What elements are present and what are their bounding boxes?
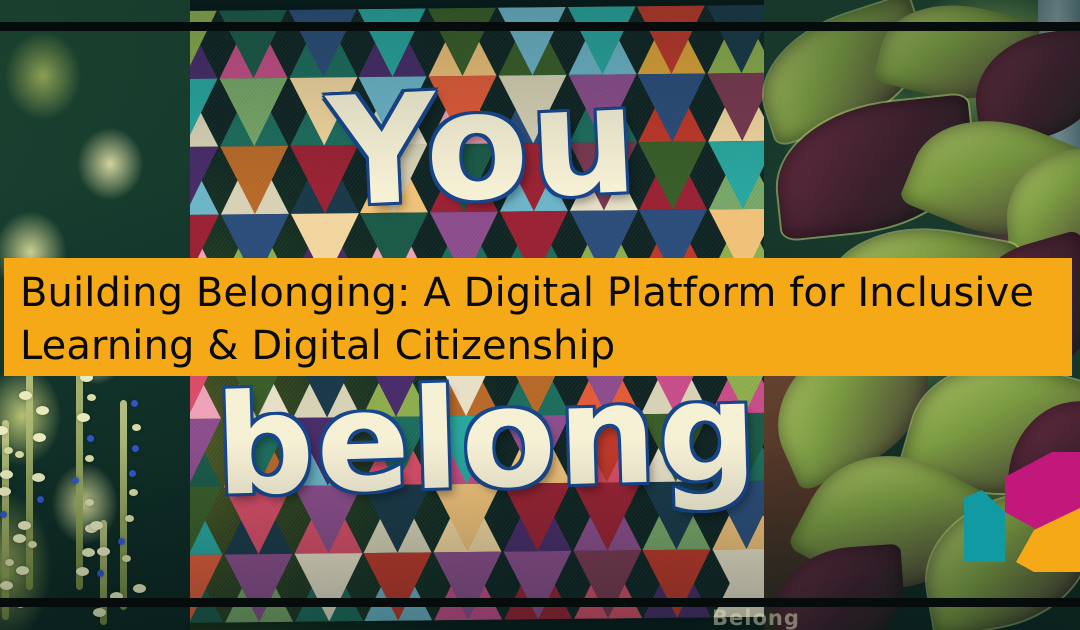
bottom-caption: Belong: [712, 606, 800, 630]
flower-bud: [122, 555, 131, 562]
flower-bud: [125, 515, 134, 522]
slide-canvas: You belong. Belong Building Belonging: A…: [0, 0, 1080, 630]
flower-stem: [120, 400, 127, 610]
flower-bud: [28, 541, 37, 548]
title-banner: Building Belonging: A Digital Platform f…: [4, 258, 1072, 376]
flower-bud: [85, 499, 94, 506]
flower-bud: [132, 424, 141, 431]
flower-bud: [13, 534, 26, 543]
flower-bud: [87, 435, 94, 442]
flower-bud: [85, 455, 94, 462]
flower-bud: [129, 470, 136, 477]
flower-bud: [0, 487, 11, 496]
flower-bud: [15, 451, 24, 458]
flower-bud: [87, 394, 96, 401]
flower-bud: [4, 447, 13, 454]
tri-color-pinwheel-logo[interactable]: [964, 450, 1080, 572]
flower-bud: [76, 567, 89, 576]
flower-bud: [97, 547, 110, 556]
flower-bud: [72, 477, 79, 484]
flower-bud: [132, 445, 139, 452]
top-dark-bar: [0, 22, 1080, 31]
flower-bud: [0, 511, 7, 518]
flower-bud: [77, 413, 90, 422]
flower-bud: [0, 581, 13, 590]
sign-word-you: You: [324, 53, 642, 241]
flower-stem: [26, 340, 33, 590]
flower-bud: [97, 570, 104, 577]
flower-bud: [0, 470, 13, 479]
slide-title: Building Belonging: A Digital Platform f…: [20, 267, 1036, 373]
flower-bud: [118, 538, 125, 545]
flower-bud: [129, 489, 138, 496]
flower-bud: [5, 559, 14, 566]
flower-bud: [36, 406, 49, 415]
flower-bud: [33, 433, 46, 442]
flower-bud: [19, 391, 32, 400]
flower-bud: [133, 584, 146, 593]
logo-shape-teal: [964, 490, 1005, 562]
bottom-dark-bar: [0, 598, 1080, 607]
flower-bud: [82, 548, 95, 557]
flower-bud: [37, 496, 44, 503]
flower-bud: [32, 473, 45, 482]
flower-bud: [131, 400, 138, 407]
